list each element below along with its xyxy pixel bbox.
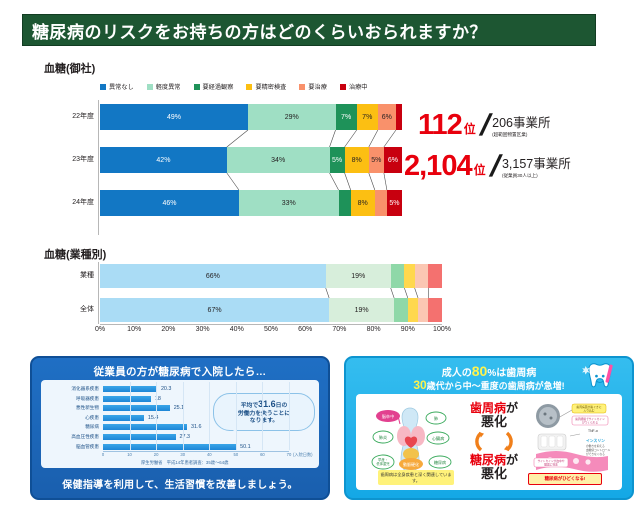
hbar-track bbox=[103, 396, 151, 402]
ranking-unit: 位 bbox=[474, 161, 486, 180]
x-tick-label: 100% bbox=[433, 326, 451, 333]
chart-baseline bbox=[100, 324, 442, 325]
legend-label: 要精密検査 bbox=[255, 82, 286, 91]
x-tick-label: 20% bbox=[161, 326, 175, 333]
slide-page: 糖尿病のリスクをお持ちの方はどのくらいおられますか？ 血糖(御社) 血糖(業種別… bbox=[0, 0, 640, 512]
hbar-tick-label: 70 bbox=[287, 452, 292, 457]
svg-text:低体重児: 低体重児 bbox=[376, 461, 390, 466]
bar-segment: 66% bbox=[100, 264, 326, 288]
legend-swatch-icon bbox=[246, 84, 252, 90]
legend-swatch-icon bbox=[340, 84, 346, 90]
chart-row: 24年度46%33%8%5% bbox=[44, 190, 404, 216]
hbar-source-note: 厚生労働省 平成14年患者調査：35歳～64歳 bbox=[141, 460, 228, 466]
hbar-fill bbox=[103, 444, 236, 450]
sub-number: 30 bbox=[413, 378, 426, 392]
svg-text:脳卒中: 脳卒中 bbox=[382, 413, 395, 420]
legend-item-2: 要経過観察 bbox=[194, 82, 234, 91]
panel-right-diagram: 脳卒中 肺 肺炎 心臓病 早産・ 低体重児 動脈硬化 糖尿病 歯周病が bbox=[356, 394, 622, 490]
hbar-fill bbox=[103, 415, 144, 421]
cycle-bottom-particle: が bbox=[506, 453, 518, 467]
bar-segment bbox=[394, 298, 408, 322]
hbar-fill bbox=[103, 396, 151, 402]
bar-segment bbox=[428, 264, 442, 288]
bar-segment: 19% bbox=[326, 264, 391, 288]
hbar-tick-label: 10 bbox=[127, 452, 132, 457]
hbar-label: 呼吸器疾患 bbox=[41, 394, 99, 404]
legend-label: 治療中 bbox=[349, 82, 368, 91]
hbar-gridline bbox=[209, 382, 210, 450]
svg-text:心臓病: 心臓病 bbox=[432, 435, 445, 442]
legend-label: 要治療 bbox=[308, 82, 327, 91]
bar-segment bbox=[408, 298, 418, 322]
hbar-label: 脳血管疾患 bbox=[41, 442, 99, 452]
hbar-tick-label: 50 bbox=[234, 452, 239, 457]
bar-segment: 67% bbox=[100, 298, 329, 322]
bubble-mid: 日の bbox=[276, 403, 288, 409]
legend-item-4: 要治療 bbox=[299, 82, 327, 91]
page-title: 糖尿病のリスクをお持ちの方はどのくらいおられますか？ bbox=[23, 18, 487, 43]
x-tick-label: 30% bbox=[196, 326, 210, 333]
bar-segment: 42% bbox=[100, 147, 227, 173]
hbar-label: 高血圧性疾患 bbox=[41, 432, 99, 442]
panel-left-heading: 従業員の方が糖尿病で入院したら… bbox=[32, 364, 328, 379]
row-label: 24年度 bbox=[44, 190, 94, 216]
ranking-value: 2,104 bbox=[404, 153, 472, 180]
bar-segment: 8% bbox=[345, 147, 369, 173]
ranking-value: 112 bbox=[418, 112, 462, 139]
bar-segment bbox=[391, 264, 405, 288]
hbar-track bbox=[103, 405, 170, 411]
bar-segment: 46% bbox=[100, 190, 239, 216]
bar-segment: 49% bbox=[100, 104, 248, 130]
bar-segment: 8% bbox=[351, 190, 375, 216]
legend-swatch-icon bbox=[147, 84, 153, 90]
x-tick-label: 10% bbox=[127, 326, 141, 333]
hbar-fill bbox=[103, 434, 176, 440]
hbar-unit-label: (入院日数) bbox=[293, 452, 313, 458]
chart-row: 業種66%19% bbox=[44, 264, 444, 288]
svg-text:臓器に到達: 臓器に到達 bbox=[544, 462, 558, 466]
row-bars: 49%29%7%7%6% bbox=[100, 104, 402, 130]
ranking-note: (超範囲物置区業) bbox=[492, 132, 527, 138]
bubble-line2: 労働力を失うことに bbox=[238, 411, 290, 417]
bar-segment: 34% bbox=[227, 147, 330, 173]
hbar-gridline bbox=[156, 382, 157, 450]
hbar-value: 31.6 bbox=[191, 422, 202, 432]
bar-segment: 19% bbox=[329, 298, 394, 322]
ranking-total: 3,157事業所 bbox=[502, 153, 571, 172]
head-number: 80 bbox=[472, 363, 488, 379]
hbar-gridline bbox=[236, 382, 237, 450]
svg-text:動脈硬化: 動脈硬化 bbox=[403, 461, 419, 467]
bar-segment bbox=[418, 298, 428, 322]
tooth-icon bbox=[582, 361, 616, 393]
callout-bubble: 平均で31.6日の 労働力を失うことに なります。 bbox=[213, 393, 315, 431]
legend-item-3: 要精密検査 bbox=[246, 82, 286, 91]
row-label: 22年度 bbox=[44, 104, 94, 130]
panel-hospitalization: 従業員の方が糖尿病で入院したら… 消化器系疾患20.3呼吸器疾患18悪性新生物2… bbox=[30, 356, 330, 500]
cycle-diagram: 歯周病が 悪化 bbox=[452, 402, 536, 428]
hbar-track bbox=[103, 424, 187, 430]
hbar-fill bbox=[103, 405, 170, 411]
hbar-gridline bbox=[183, 382, 184, 450]
bar-segment bbox=[415, 264, 429, 288]
x-tick-label: 0% bbox=[95, 326, 105, 333]
row-label: 全体 bbox=[44, 298, 94, 322]
panel-left-footer: 保健指導を利用して、生活習慣を改善しましょう。 bbox=[32, 476, 328, 491]
legend-item-0: 異常なし bbox=[100, 82, 134, 91]
panel-left-chart-area: 消化器系疾患20.3呼吸器疾患18悪性新生物25.1心疾患15.4糖尿病31.6… bbox=[41, 380, 319, 468]
page-title-bar: 糖尿病のリスクをお持ちの方はどのくらいおられますか？ bbox=[22, 14, 596, 46]
hbar-label: 悪性新生物 bbox=[41, 403, 99, 413]
ranking-company: 112 位 / 206事業所 (超範囲物置区業) bbox=[418, 112, 551, 139]
bubble-line3: なります。 bbox=[250, 418, 278, 424]
hbar-tick-label: 40 bbox=[207, 452, 212, 457]
cycle-top-strong: 歯周病 bbox=[470, 401, 506, 415]
hbar-label: 糖尿病 bbox=[41, 422, 99, 432]
chart-row: 22年度49%29%7%7%6% bbox=[44, 104, 404, 130]
row-label: 23年度 bbox=[44, 147, 94, 173]
hbar-label: 心疾患 bbox=[41, 413, 99, 423]
bar-segment: 7% bbox=[336, 104, 357, 130]
legend-item-1: 軽度異常 bbox=[147, 82, 181, 91]
cycle-top-particle: が bbox=[506, 401, 518, 415]
cycle-bottom-strong: 糖尿病 bbox=[470, 453, 506, 467]
slash-divider-icon: / bbox=[484, 155, 504, 180]
row-bars: 46%33%8%5% bbox=[100, 190, 402, 216]
svg-text:の働きを抑える: の働きを抑える bbox=[586, 444, 605, 448]
svg-text:ができなくなる: ができなくなる bbox=[586, 452, 605, 456]
hbar-label: 消化器系疾患 bbox=[41, 384, 99, 394]
bar-segment bbox=[404, 264, 414, 288]
ranking-total: 206事業所 bbox=[492, 112, 550, 131]
sub-text: 歳代から中～重度の歯周病が急増! bbox=[427, 381, 565, 391]
bar-segment: 5% bbox=[387, 190, 402, 216]
bar-segment: 5% bbox=[330, 147, 345, 173]
hbar-fill bbox=[103, 424, 187, 430]
x-axis-ticks: 0%10%20%30%40%50%60%70%80%90%100% bbox=[100, 326, 442, 338]
legend-item-5: 治療中 bbox=[340, 82, 368, 91]
row-bars: 67%19% bbox=[100, 298, 442, 322]
svg-text:入り込む: 入り込む bbox=[583, 408, 594, 412]
legend-label: 軽度異常 bbox=[156, 82, 181, 91]
slash-divider-icon: / bbox=[474, 114, 494, 139]
bar-segment bbox=[428, 298, 442, 322]
cycle-arrows-icon bbox=[472, 428, 516, 454]
x-tick-label: 40% bbox=[230, 326, 244, 333]
hbar-gridline bbox=[289, 382, 290, 450]
x-tick-label: 50% bbox=[264, 326, 278, 333]
bar-segment: 33% bbox=[239, 190, 339, 216]
legend-swatch-icon bbox=[299, 84, 305, 90]
legend-swatch-icon bbox=[100, 84, 106, 90]
periodontal-mechanism-diagram-icon: 歯周病菌が歯ぐきに 入り込む 歯周組織でサイトカイン がつくられる TNF-α … bbox=[528, 402, 614, 476]
svg-text:糖尿病: 糖尿病 bbox=[434, 459, 446, 465]
row-label: 業種 bbox=[44, 264, 94, 288]
bubble-pre: 平均で bbox=[241, 403, 258, 409]
heading-industry-chart: 血糖(業種別) bbox=[44, 246, 106, 262]
legend-label: 要経過観察 bbox=[203, 82, 234, 91]
yellow-note-tag: 歯周病は全身疾患と深く関連しています。 bbox=[378, 470, 454, 485]
x-tick-label: 80% bbox=[367, 326, 381, 333]
chart-row: 23年度42%34%5%8%5%6% bbox=[44, 147, 404, 173]
hbar-gridline bbox=[262, 382, 263, 450]
hbar-tick-label: 0 bbox=[102, 452, 104, 457]
company-stacked-bar-chart: 2%4%4% 22年度49%29%7%7%6%23年度42%34%5%8%5%6… bbox=[44, 100, 404, 235]
hbar-tick-label: 30 bbox=[180, 452, 185, 457]
ranking-national: 2,104 位 / 3,157事業所 (従業員30人以上) bbox=[404, 153, 571, 180]
bar-segment bbox=[339, 190, 351, 216]
svg-text:がつくられる: がつくられる bbox=[582, 420, 598, 424]
svg-text:TNF-α: TNF-α bbox=[588, 429, 598, 433]
industry-stacked-bar-chart: 4%3%4%4%4%3%3%4% 業種66%19%全体67%19% 0%10%2… bbox=[44, 262, 444, 344]
body-organ-diagram-icon: 脳卒中 肺 肺炎 心臓病 早産・ 低体重児 動脈硬化 糖尿病 bbox=[370, 404, 456, 476]
bar-segment: 6% bbox=[384, 147, 402, 173]
ranking-note: (従業員30人以上) bbox=[502, 173, 538, 179]
bar-segment: 5% bbox=[369, 147, 384, 173]
cycle-diagram-bottom: 糖尿病が 悪化 bbox=[452, 454, 536, 480]
bubble-number: 31.6 bbox=[258, 399, 276, 409]
hbar-row: 高血圧性疾患27.3 bbox=[41, 432, 319, 442]
red-note-tag: 糖尿病がひどくなる! bbox=[528, 473, 602, 485]
legend-label: 異常なし bbox=[109, 82, 134, 91]
hbar-value: 20.3 bbox=[161, 384, 172, 394]
panel-periodontal: 成人の80%は歯周病 30歳代から中～重度の歯周病が急増! 脳卒中 肺 bbox=[344, 356, 634, 500]
bar-segment: 29% bbox=[248, 104, 336, 130]
x-tick-label: 90% bbox=[401, 326, 415, 333]
row-bars: 42%34%5%8%5%6% bbox=[100, 147, 402, 173]
svg-text:インスリン: インスリン bbox=[586, 438, 605, 443]
x-tick-label: 70% bbox=[332, 326, 346, 333]
hbar-track bbox=[103, 444, 236, 450]
hbar-tick-label: 20 bbox=[154, 452, 159, 457]
bar-segment: 6% bbox=[378, 104, 396, 130]
cycle-top-verb: 悪化 bbox=[452, 415, 536, 429]
chart-row: 全体67%19% bbox=[44, 298, 444, 322]
bar-segment: 7% bbox=[357, 104, 378, 130]
hbar-track bbox=[103, 415, 144, 421]
chart-legend: 異常なし軽度異常要経過観察要精密検査要治療治療中 bbox=[100, 82, 368, 91]
hbar-value: 27.3 bbox=[180, 432, 191, 442]
hbar-track bbox=[103, 434, 176, 440]
legend-swatch-icon bbox=[194, 84, 200, 90]
svg-text:血糖値コントロール: 血糖値コントロール bbox=[586, 448, 610, 452]
hbar-gridline bbox=[130, 382, 131, 450]
bar-segment bbox=[396, 104, 402, 130]
cycle-bottom-verb: 悪化 bbox=[452, 467, 536, 481]
heading-company-chart: 血糖(御社) bbox=[44, 60, 95, 76]
row-bars: 66%19% bbox=[100, 264, 442, 288]
hbar-tick-label: 60 bbox=[260, 452, 265, 457]
bar-segment bbox=[375, 190, 387, 216]
x-tick-label: 60% bbox=[298, 326, 312, 333]
